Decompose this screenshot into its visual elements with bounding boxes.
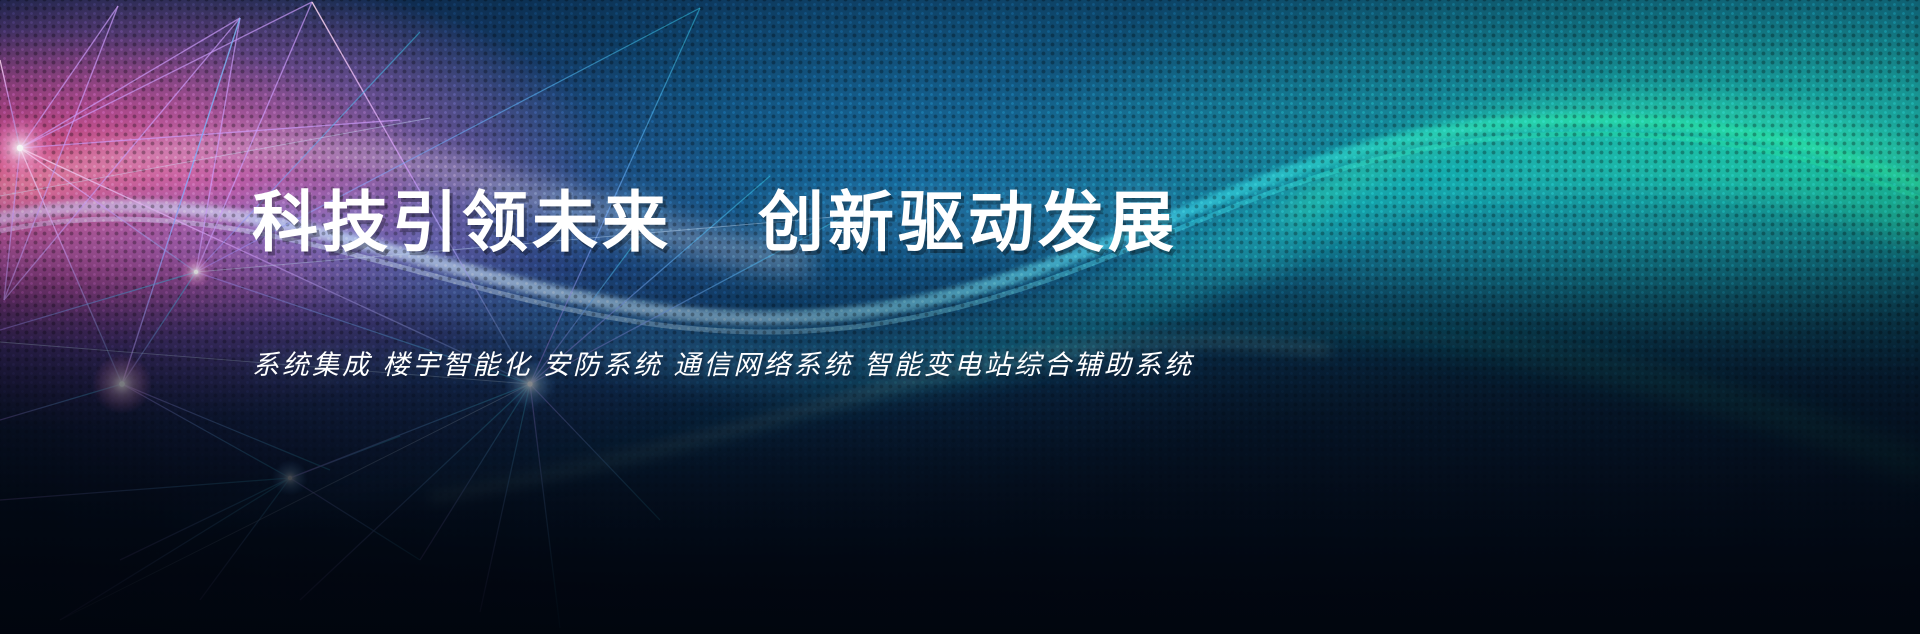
background-vignette — [0, 0, 1920, 634]
hero-banner: 科技引领未来 创新驱动发展 系统集成 楼宇智能化 安防系统 通信网络系统 智能变… — [0, 0, 1920, 634]
